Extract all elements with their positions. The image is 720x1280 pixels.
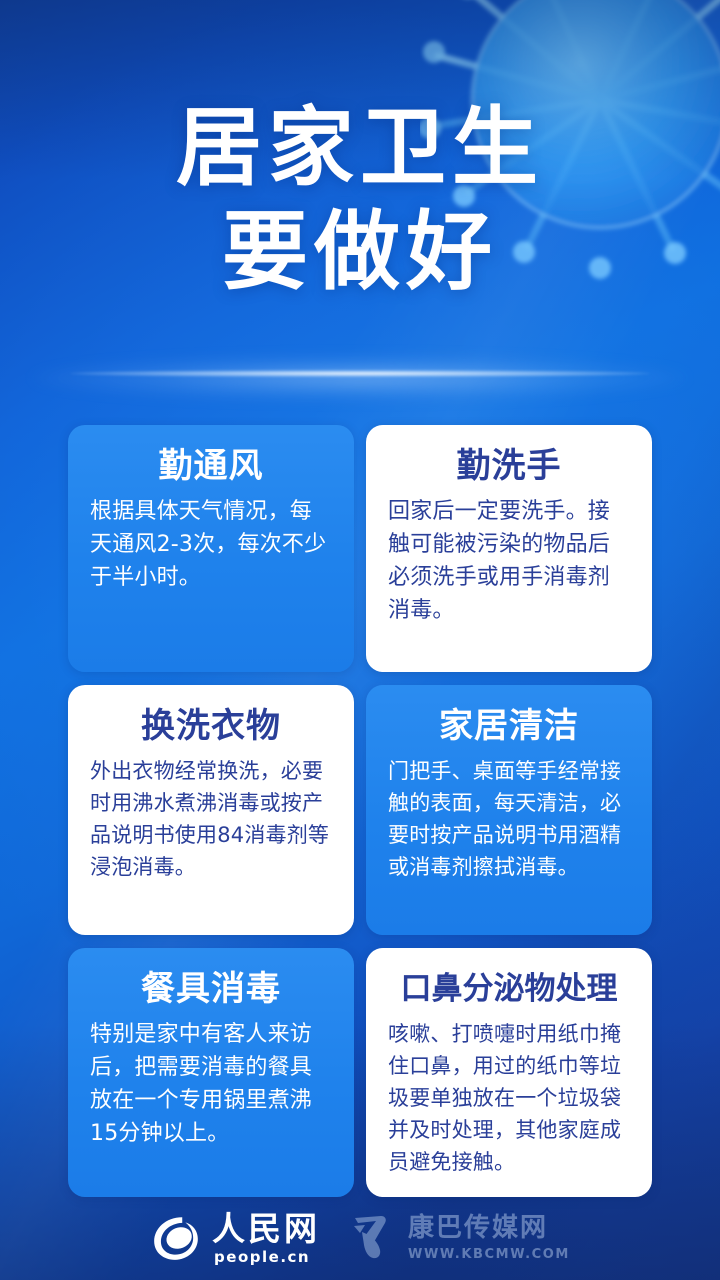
title-line-1: 居家卫生 (0, 96, 720, 200)
brand-name-cn: 人民网 (212, 1212, 320, 1245)
tip-card-laundry[interactable]: 换洗衣物 外出衣物经常换洗，必要时用沸水煮沸消毒或按产品说明书使用84消毒剂等浸… (68, 685, 354, 935)
glow-halo (30, 356, 690, 400)
brand-name-en: people.cn (214, 1250, 310, 1265)
tip-card-title: 勤通风 (159, 445, 264, 487)
watermark-name-cn: 康巴传媒网 (408, 1215, 548, 1241)
watermark-url: WWW.KBCMW.COM (408, 1247, 570, 1262)
page-title: 居家卫生 要做好 (0, 96, 720, 304)
footer: 人民网 people.cn 康巴传媒网 WWW.KBCMW.COM (0, 1196, 720, 1280)
tip-card-body: 门把手、桌面等手经常接触的表面，每天清洁，必要时按产品说明书用酒精或消毒剂擦拭消… (388, 755, 630, 883)
tip-card-title: 换洗衣物 (141, 705, 281, 747)
title-line-2: 要做好 (0, 200, 720, 304)
kbcmw-wordmark: 康巴传媒网 WWW.KBCMW.COM (408, 1215, 570, 1262)
tip-card-body: 回家后一定要洗手。接触可能被污染的物品后必须洗手或用手消毒剂消毒。 (388, 495, 630, 627)
tip-card-title: 家居清洁 (439, 705, 579, 747)
people-cn-brand[interactable]: 人民网 people.cn (150, 1212, 320, 1265)
tip-card-body: 特别是家中有客人来访后，把需要消毒的餐具放在一个专用锅里煮沸15分钟以上。 (90, 1018, 332, 1150)
tip-card-home-cleaning[interactable]: 家居清洁 门把手、桌面等手经常接触的表面，每天清洁，必要时按产品说明书用酒精或消… (366, 685, 652, 935)
glow-core (70, 370, 651, 377)
tip-card-title: 勤洗手 (457, 445, 562, 487)
tip-card-title: 口鼻分泌物处理 (401, 968, 618, 1010)
tip-card-ventilation[interactable]: 勤通风 根据具体天气情况，每天通风2-3次，每次不少于半小时。 (68, 425, 354, 672)
tips-grid: 勤通风 根据具体天气情况，每天通风2-3次，每次不少于半小时。 勤洗手 回家后一… (68, 425, 652, 1197)
tip-card-handwashing[interactable]: 勤洗手 回家后一定要洗手。接触可能被污染的物品后必须洗手或用手消毒剂消毒。 (366, 425, 652, 672)
tip-card-title: 餐具消毒 (141, 968, 281, 1010)
people-cn-wordmark: 人民网 people.cn (212, 1212, 320, 1265)
tip-card-body: 外出衣物经常换洗，必要时用沸水煮沸消毒或按产品说明书使用84消毒剂等浸泡消毒。 (90, 755, 332, 883)
kbcmw-watermark: 康巴传媒网 WWW.KBCMW.COM (350, 1215, 570, 1262)
infographic-poster: 居家卫生 要做好 勤通风 根据具体天气情况，每天通风2-3次，每次不少于半小时。… (0, 0, 720, 1280)
people-cn-swirl-icon (150, 1212, 202, 1264)
tip-card-respiratory-secretions[interactable]: 口鼻分泌物处理 咳嗽、打喷嚏时用纸巾掩住口鼻，用过的纸巾等垃圾要单独放在一个垃圾… (366, 948, 652, 1197)
glow-divider (30, 352, 690, 404)
tip-card-body: 咳嗽、打喷嚏时用纸巾掩住口鼻，用过的纸巾等垃圾要单独放在一个垃圾袋并及时处理，其… (388, 1018, 630, 1178)
tip-card-tableware-disinfection[interactable]: 餐具消毒 特别是家中有客人来访后，把需要消毒的餐具放在一个专用锅里煮沸15分钟以… (68, 948, 354, 1197)
tip-card-body: 根据具体天气情况，每天通风2-3次，每次不少于半小时。 (90, 495, 332, 594)
kbcmw-bird-icon (350, 1215, 400, 1261)
